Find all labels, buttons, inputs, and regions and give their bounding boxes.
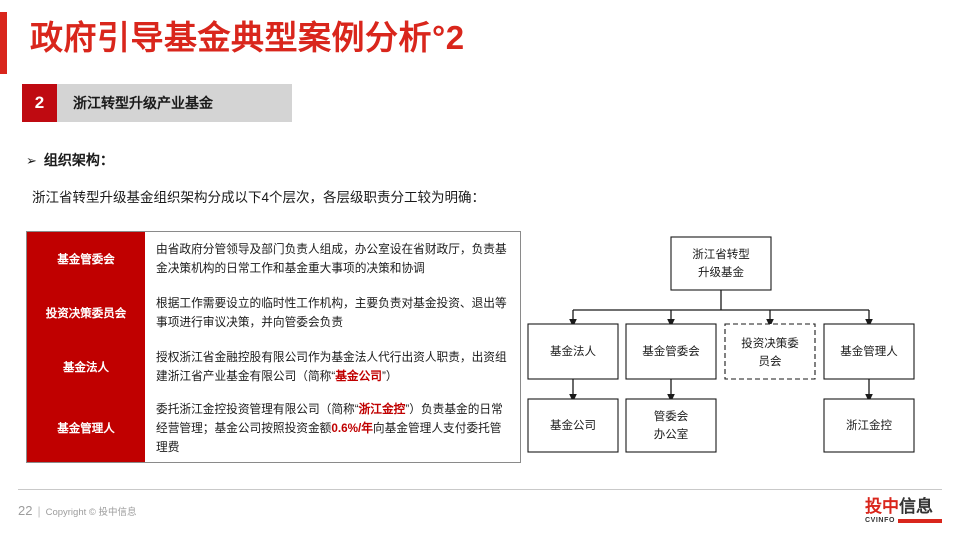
org-node-investment-decision-committee: 投资决策委 员会 xyxy=(725,324,815,379)
section-number: 2 xyxy=(22,84,57,122)
bullet-heading: ➢ 组织架构： xyxy=(26,150,114,170)
intro-paragraph: 浙江省转型升级基金组织架构分成以下4个层次，各层级职责分工较为明确： xyxy=(32,186,485,206)
brand-logo-sub: CVINFO xyxy=(865,517,942,524)
table-row-label: 投资决策委员会 xyxy=(27,286,145,340)
org-node-fund-legal-person-line1: 基金法人 xyxy=(550,344,596,358)
org-node-fund-manager: 基金管理人 xyxy=(824,324,914,379)
table-row-description: 委托浙江金控投资管理有限公司（简称“浙江金控”）负责基金的日常经营管理；基金公司… xyxy=(145,394,520,462)
org-node-committee-office-line2: 办公室 xyxy=(654,427,689,441)
table-row: 基金管委会由省政府分管领导及部门负责人组成，办公室设在省财政厅，负责基金决策机构… xyxy=(27,232,520,286)
footer-divider xyxy=(18,489,942,490)
brand-logo-bar xyxy=(898,519,942,523)
footer: 22 | Copyright © 投中信息 xyxy=(18,503,137,518)
org-node-fund-manager-line1: 基金管理人 xyxy=(840,344,898,358)
table-row-label: 基金法人 xyxy=(27,340,145,394)
org-node-fund-company-line1: 基金公司 xyxy=(550,418,596,432)
title-accent-bar xyxy=(0,12,7,74)
org-node-fund-legal-person: 基金法人 xyxy=(528,324,618,379)
table-row: 投资决策委员会根据工作需要设立的临时性工作机构，主要负责对基金投资、退出等事项进… xyxy=(27,286,520,340)
brand-logo-cn: 投中信息 xyxy=(865,498,942,515)
org-node-fund-committee: 基金管委会 xyxy=(626,324,716,379)
table-row-description: 授权浙江省金融控股有限公司作为基金法人代行出资人职责，出资组建浙江省产业基金有限… xyxy=(145,340,520,394)
org-node-fund-company: 基金公司 xyxy=(528,399,618,452)
org-node-committee-office-line1: 管委会 xyxy=(654,409,689,423)
section-title: 浙江转型升级产业基金 xyxy=(57,84,292,122)
org-node-root: 浙江省转型 升级基金 xyxy=(671,237,771,290)
table-row-label: 基金管委会 xyxy=(27,232,145,286)
brand-logo: 投中信息 CVINFO xyxy=(865,498,942,524)
table-row-description: 根据工作需要设立的临时性工作机构，主要负责对基金投资、退出等事项进行审议决策，并… xyxy=(145,286,520,340)
org-node-root-line2: 升级基金 xyxy=(698,265,744,279)
org-node-investment-decision-committee-line1: 投资决策委 xyxy=(741,336,799,350)
org-node-committee-office: 管委会 办公室 xyxy=(626,399,716,452)
org-roles-table: 基金管委会由省政府分管领导及部门负责人组成，办公室设在省财政厅，负责基金决策机构… xyxy=(26,231,521,463)
table-row: 基金法人授权浙江省金融控股有限公司作为基金法人代行出资人职责，出资组建浙江省产业… xyxy=(27,340,520,394)
org-node-fund-committee-line1: 基金管委会 xyxy=(642,344,700,358)
table-row-label: 基金管理人 xyxy=(27,394,145,462)
page-title: 政府引导基金典型案例分析°2 xyxy=(30,16,465,60)
org-node-root-line1: 浙江省转型 xyxy=(692,247,750,261)
section-badge: 2 浙江转型升级产业基金 xyxy=(22,84,292,122)
org-chart: 浙江省转型 升级基金 基金法人 基金管委会 投资决策委 员会 基金管理人 基金公… xyxy=(523,232,943,460)
brand-logo-en: CVINFO xyxy=(865,517,895,524)
table-row-description: 由省政府分管领导及部门负责人组成，办公室设在省财政厅，负责基金决策机构的日常工作… xyxy=(145,232,520,286)
arrow-right-icon: ➢ xyxy=(26,154,37,167)
org-node-investment-decision-committee-line2: 员会 xyxy=(759,355,782,368)
brand-logo-cn-red: 投中 xyxy=(865,497,899,516)
footer-separator: | xyxy=(37,504,40,518)
org-node-zhejiang-jinkong-line1: 浙江金控 xyxy=(846,418,892,432)
copyright-text: Copyright © 投中信息 xyxy=(46,504,137,518)
table-row: 基金管理人委托浙江金控投资管理有限公司（简称“浙江金控”）负责基金的日常经营管理… xyxy=(27,394,520,462)
page-number: 22 xyxy=(18,503,32,518)
bullet-heading-label: 组织架构： xyxy=(44,150,114,170)
org-node-zhejiang-jinkong: 浙江金控 xyxy=(824,399,914,452)
brand-logo-cn-dark: 信息 xyxy=(899,497,933,516)
